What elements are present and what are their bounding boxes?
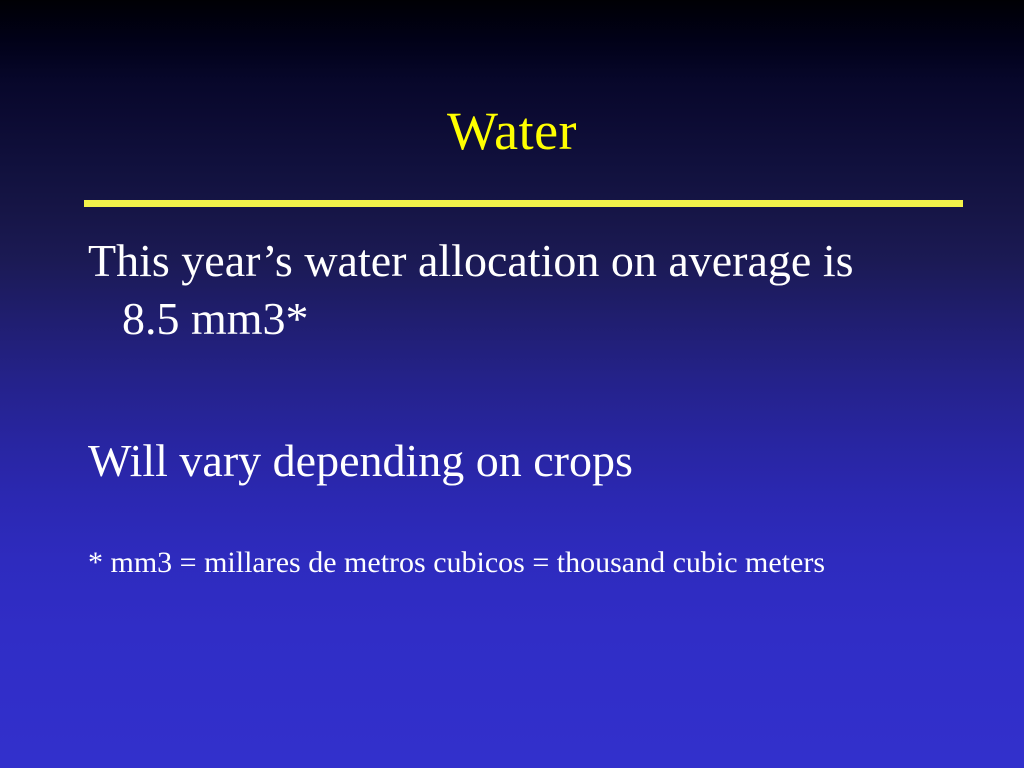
body-paragraph-allocation: This year’s water allocation on average … <box>88 232 922 348</box>
footnote-text: * mm3 = millares de metros cubicos = tho… <box>88 546 825 579</box>
body-paragraph-allocation-text: This year’s water allocation on average … <box>88 235 854 344</box>
footnote-paragraph: * mm3 = millares de metros cubicos = tho… <box>88 542 922 584</box>
presentation-slide: Water This year’s water allocation on av… <box>0 0 1024 768</box>
paragraph-spacer <box>88 348 968 432</box>
footnote-spacer <box>88 490 968 542</box>
slide-title: Water <box>0 101 1024 161</box>
slide-body: This year’s water allocation on average … <box>88 232 968 584</box>
body-paragraph-crops-text: Will vary depending on crops <box>88 435 633 486</box>
body-paragraph-crops: Will vary depending on crops <box>88 432 952 490</box>
title-divider-rule <box>84 200 963 207</box>
